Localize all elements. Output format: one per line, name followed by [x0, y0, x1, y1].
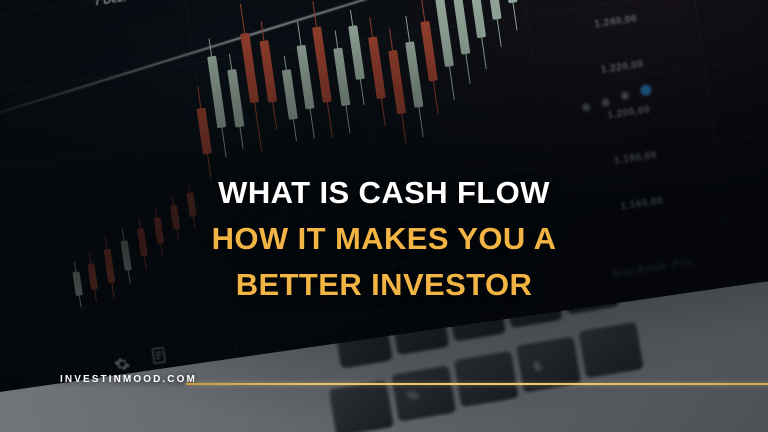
footer-divider-rule [186, 383, 768, 385]
headline-line-2: HOW IT MAKES YOU A [0, 216, 768, 262]
headline-line-3: BETTER INVESTOR [0, 262, 768, 308]
blog-thumbnail: % 6 1 Tag 3 Monate [0, 0, 768, 432]
footer-block: INVESTINMOOD.COM [0, 374, 768, 394]
headline-line-1: WHAT IS CASH FLOW [0, 170, 768, 216]
site-brand-label: INVESTINMOOD.COM [60, 374, 197, 385]
headline-block: WHAT IS CASH FLOW HOW IT MAKES YOU A BET… [0, 170, 768, 308]
text-overlay: WHAT IS CASH FLOW HOW IT MAKES YOU A BET… [0, 0, 768, 432]
